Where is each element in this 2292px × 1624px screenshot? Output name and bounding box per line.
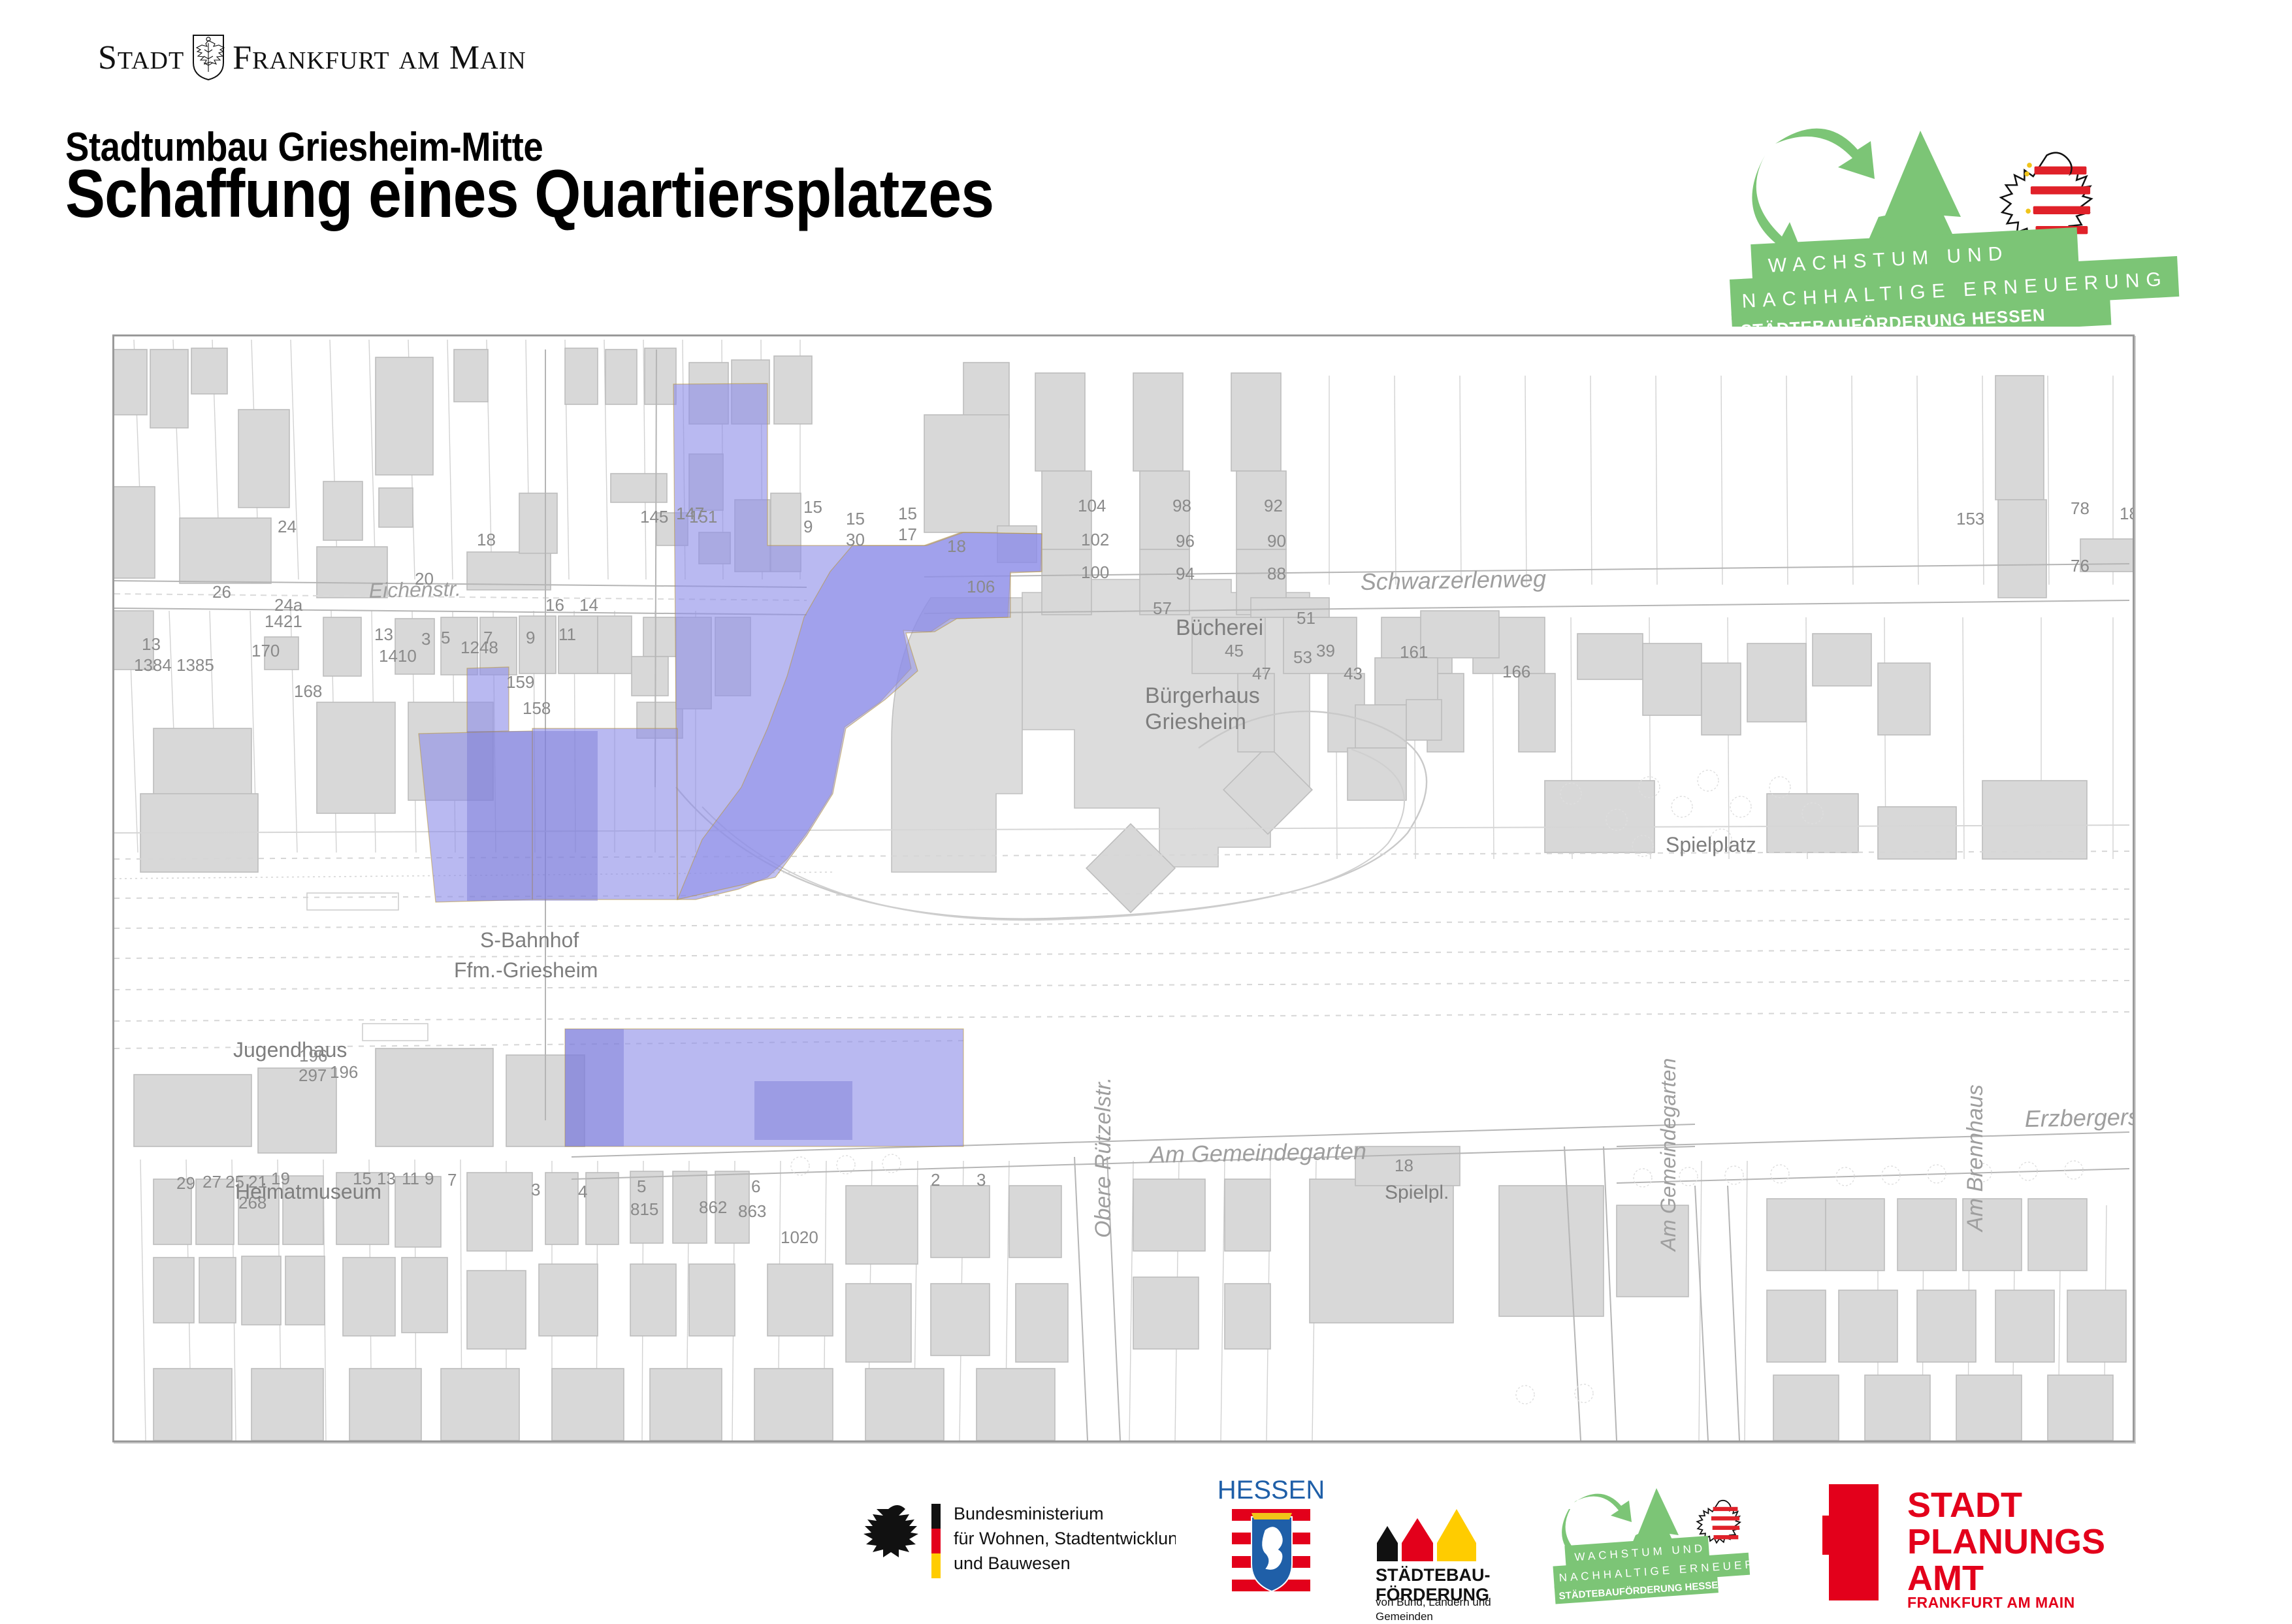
map-label: Jugendhaus — [233, 1038, 347, 1062]
map-label: 297 — [299, 1065, 327, 1085]
map-label: 5 — [441, 628, 450, 647]
spa-sub: FRANKFURT AM MAIN — [1907, 1594, 2075, 1612]
wordmark-frankfurt-am-main: FRANKFURT AM MAIN — [233, 39, 526, 77]
wordmark-stadt: STADT — [98, 39, 184, 77]
map-label: 11 — [402, 1169, 419, 1188]
map-label: 4 — [578, 1182, 587, 1201]
map-label: Am Gemeindegarten — [1148, 1137, 1366, 1168]
map-label: 15 — [353, 1169, 372, 1188]
stadtplanungsamt-logo: STADT PLANUNGS AMT FRANKFURT AM MAIN — [1822, 1476, 2162, 1607]
map-label: 26 — [212, 582, 231, 602]
map-label: 13 — [377, 1169, 396, 1188]
map-label: 15 — [803, 497, 822, 517]
bund-line2: für Wohnen, Stadtentwicklung — [954, 1529, 1176, 1548]
map-label: 45 — [1225, 641, 1244, 660]
map-label: 153 — [1956, 509, 1984, 528]
map-label: 14 — [579, 595, 598, 615]
map-label: Ffm.-Griesheim — [454, 958, 598, 982]
map-label: 15 — [898, 504, 917, 523]
map-label: 94 — [1176, 564, 1195, 583]
cadastral-map[interactable]: BüchereiBürgerhausGriesheimSpielplatzS-B… — [112, 334, 2135, 1442]
map-label: 90 — [1267, 531, 1286, 551]
map-label: 104 — [1078, 496, 1106, 515]
map-label: 96 — [1176, 531, 1195, 551]
flag-black — [931, 1504, 941, 1529]
map-label: 18 — [947, 536, 966, 556]
map-label: 19 — [271, 1169, 290, 1188]
wachstum-und-nachhaltige-erneuerung-badge: WACHSTUM UND NACHHALTIGE ERNEUERUNG STÄD… — [1724, 118, 2208, 327]
map-label: 16 — [545, 595, 564, 615]
map-label: 862 — [699, 1197, 727, 1217]
map-label: 1248 — [460, 638, 498, 657]
map-label: 100 — [1081, 562, 1109, 582]
map-label: 20 — [415, 569, 434, 589]
stadt-frankfurt-logo: STADT FRANKFURT AM MAIN — [98, 31, 516, 84]
map-label: Am Gemeindegarten — [1656, 1058, 1680, 1252]
map-label: 57 — [1153, 598, 1172, 618]
bund-line3: und Bauwesen — [954, 1553, 1071, 1573]
wachstum-erneuerung-logo-small: WACHSTUM UND NACHHALTIGE ERNEUERUNG STÄD… — [1547, 1478, 1762, 1608]
map-label: 158 — [523, 698, 551, 718]
staedtebaufoerderung-logo: STÄDTEBAU- FÖRDERUNG von Bund, Ländern u… — [1365, 1483, 1515, 1607]
map-label: 3 — [977, 1170, 986, 1190]
map-label: 98 — [1172, 496, 1191, 515]
map-label: 159 — [506, 672, 534, 692]
map-label: 17 — [898, 525, 917, 544]
map-label: 106 — [967, 577, 995, 596]
page-footer: Bundesministerium für Wohnen, Stadtentwi… — [0, 1463, 2292, 1620]
map-label: 29 — [176, 1173, 195, 1193]
map-label: 151 — [689, 507, 717, 527]
bundesadler-icon — [864, 1505, 918, 1557]
page-title: Schaffung eines Quartiersplatzes — [65, 155, 993, 233]
map-label: 11 — [558, 625, 576, 644]
map-label: S-Bahnhof — [480, 928, 579, 952]
map-label: 6 — [751, 1177, 760, 1196]
map-label: 1020 — [781, 1227, 818, 1247]
map-label: 15 — [846, 509, 865, 528]
map-label: 21 — [248, 1172, 267, 1192]
map-label: 3 — [421, 629, 430, 649]
stbf-sub1: von Bund, Ländern und — [1376, 1595, 1491, 1610]
map-label: 78 — [2071, 498, 2090, 518]
map-label: 18 — [1395, 1156, 1413, 1175]
map-label: Spielpl. — [1385, 1182, 1449, 1203]
three-houses-icon — [1377, 1509, 1476, 1561]
map-label: 30 — [846, 530, 865, 549]
map-label: 1410 — [379, 646, 417, 666]
map-label: Am Brennhaus — [1963, 1084, 1988, 1233]
page-header: STADT FRANKFURT AM MAIN Stadtumbau Gries… — [0, 0, 2292, 327]
map-label: 13 — [142, 634, 161, 654]
map-label: 7 — [447, 1170, 457, 1190]
map-label: 88 — [1267, 564, 1286, 583]
map-label: 25 — [225, 1172, 244, 1192]
map-label: Obere Rützelstr. — [1091, 1077, 1116, 1238]
frankfurt-eagle-crest-icon — [191, 34, 226, 81]
spa-line2: PLANUNGS — [1907, 1522, 2105, 1561]
map-label: 102 — [1081, 530, 1109, 549]
map-label: 27 — [202, 1172, 221, 1192]
flag-gold — [931, 1553, 941, 1578]
map-label: 815 — [630, 1199, 658, 1219]
map-label: Spielplatz — [1666, 833, 1756, 856]
spa-mark-icon — [1822, 1484, 1879, 1600]
map-label: 24 — [278, 517, 297, 536]
map-label: 39 — [1316, 641, 1335, 660]
map-label: 76 — [2071, 556, 2090, 576]
map-label: 1385 — [176, 655, 214, 675]
map-label: 1384 — [134, 655, 172, 675]
map-label: 196 — [330, 1062, 358, 1082]
map-label: 268 — [238, 1193, 266, 1212]
bundesministerium-logo: Bundesministerium für Wohnen, Stadtentwi… — [862, 1489, 1176, 1587]
hessen-label: HESSEN — [1218, 1476, 1325, 1504]
map-label: 1421 — [265, 611, 302, 631]
map-label: 47 — [1252, 664, 1271, 683]
flag-red — [931, 1529, 941, 1553]
map-label: Schwarzerlenweg — [1360, 565, 1546, 595]
map-label: 3 — [531, 1180, 540, 1199]
map-label: 51 — [1297, 608, 1315, 628]
map-label: 170 — [251, 641, 280, 660]
map-label: Bürgerhaus — [1145, 683, 1260, 708]
map-label: 9 — [526, 628, 535, 647]
map-label: 18 — [477, 530, 496, 549]
map-label: 196 — [299, 1046, 327, 1065]
map-label: 863 — [738, 1201, 766, 1221]
map-label: 2 — [931, 1170, 940, 1190]
hessen-logo: HESSEN — [1214, 1476, 1331, 1607]
spa-line1: STADT — [1907, 1486, 2022, 1525]
spa-line3: AMT — [1907, 1559, 1984, 1598]
map-label: Bücherei — [1176, 615, 1263, 640]
map-label: 145 — [640, 507, 668, 527]
map-label: 166 — [1502, 662, 1530, 681]
bund-line1: Bundesministerium — [954, 1504, 1104, 1523]
map-label: Griesheim — [1145, 709, 1246, 734]
map-label: 5 — [637, 1177, 646, 1196]
map-label: 9 — [425, 1169, 434, 1188]
map-label: 161 — [1400, 642, 1428, 662]
map-label: 53 — [1293, 647, 1312, 667]
map-label: 168 — [294, 681, 322, 701]
stbf-line1: STÄDTEBAU- — [1376, 1565, 1491, 1585]
map-label: 187 — [2120, 504, 2133, 523]
stbf-sub2: Gemeinden — [1376, 1610, 1491, 1624]
map-label: 9 — [803, 517, 813, 536]
map-label: 92 — [1264, 496, 1283, 515]
recycle-arrow-icon — [1752, 129, 1875, 257]
map-label: Erzbergerstr. — [2024, 1103, 2133, 1132]
map-label: 43 — [1344, 664, 1363, 683]
map-label: 13 — [374, 625, 393, 644]
